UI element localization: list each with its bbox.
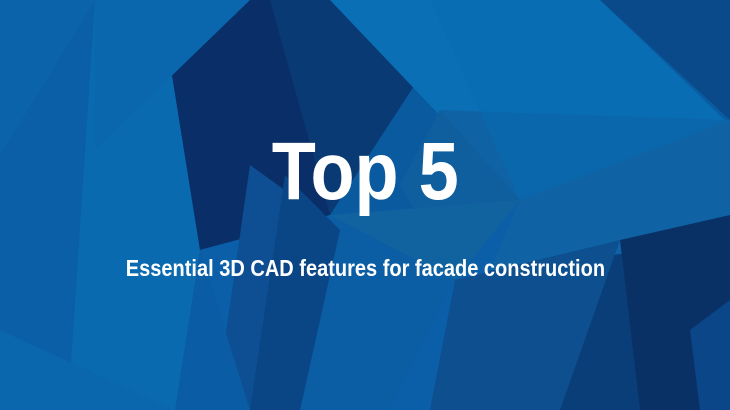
banner-content: Top 5 Essential 3D CAD features for faca… bbox=[0, 0, 730, 410]
page-title: Top 5 bbox=[271, 131, 458, 213]
page-subtitle: Essential 3D CAD features for facade con… bbox=[125, 257, 604, 280]
title-banner: Top 5 Essential 3D CAD features for faca… bbox=[0, 0, 730, 410]
